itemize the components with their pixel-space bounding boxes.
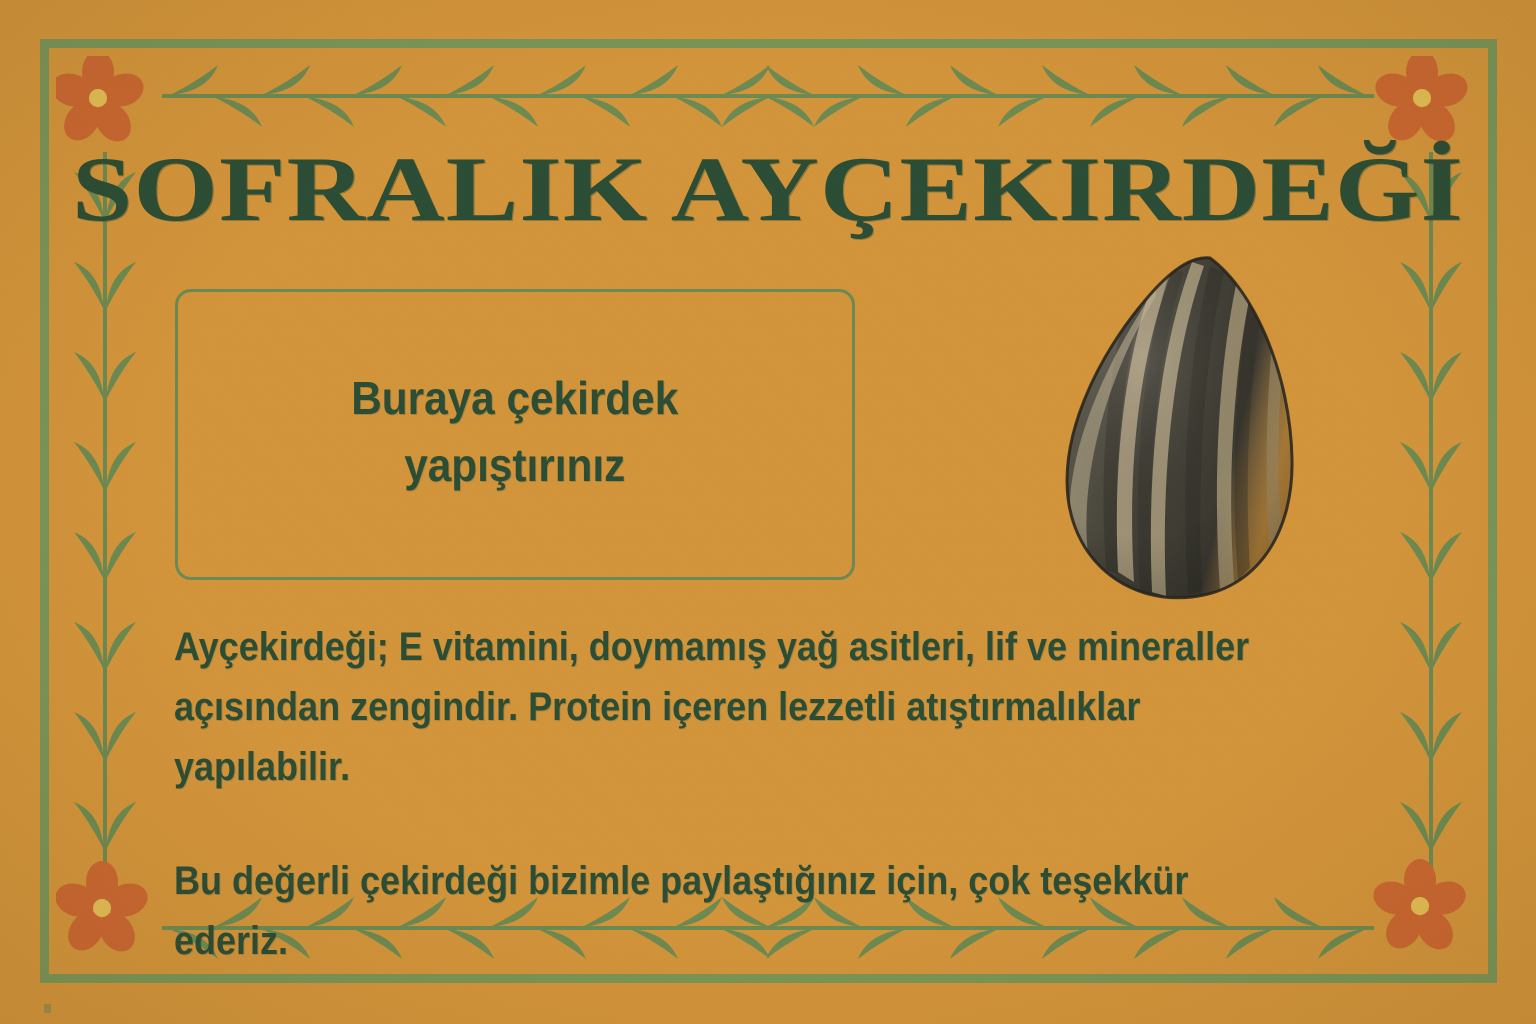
- corner-flower-bottom-left-icon: [56, 852, 174, 970]
- paste-instruction-line-1: Buraya çekirdek: [351, 365, 678, 432]
- paper-speck: [44, 1004, 51, 1013]
- body-paragraph-2: Bu değerli çekirdeği bizimle paylaştığın…: [174, 851, 1254, 971]
- page-title: SOFRALIK AYÇEKIRDEĞİ: [0, 143, 1536, 235]
- paste-instruction-line-2: yapıştırınız: [351, 432, 678, 499]
- body-copy: Ayçekirdeği; E vitamini, doymamış yağ as…: [174, 617, 1374, 971]
- paste-instruction: Buraya çekirdek yapıştırınız: [351, 365, 678, 504]
- corner-flower-bottom-right-icon: [1362, 852, 1480, 970]
- seed-paste-area[interactable]: Buraya çekirdek yapıştırınız: [175, 289, 855, 580]
- body-paragraph-1: Ayçekirdeği; E vitamini, doymamış yağ as…: [174, 617, 1254, 797]
- poster-canvas: SOFRALIK AYÇEKIRDEĞİ Buraya çekirdek yap…: [0, 0, 1536, 1024]
- sunflower-seed-illustration: [1060, 252, 1300, 604]
